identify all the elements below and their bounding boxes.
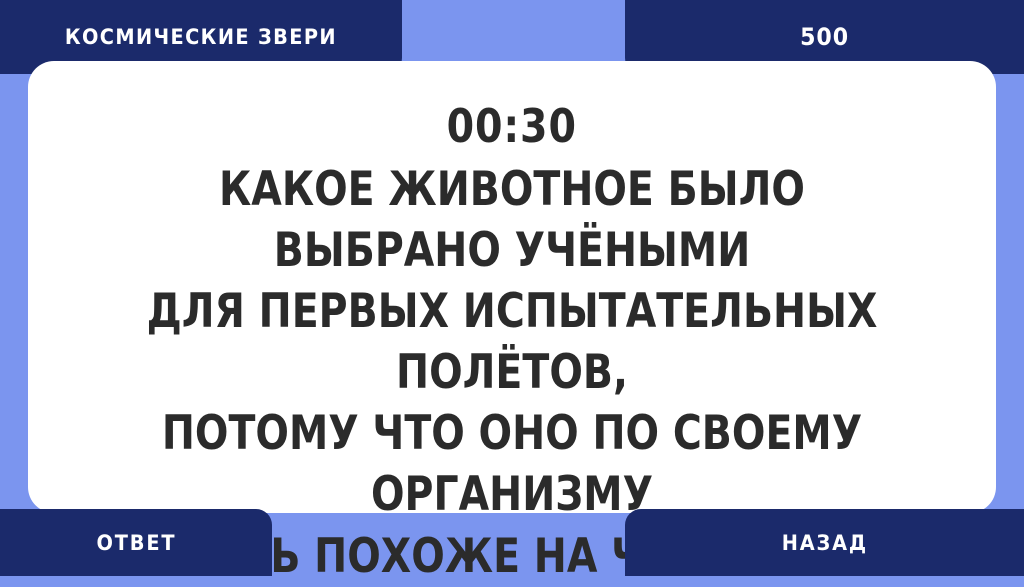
back-button-label: Назад: [781, 531, 867, 555]
answer-button[interactable]: Ответ: [0, 509, 272, 576]
answer-button-label: Ответ: [96, 531, 176, 555]
points-value: 500: [800, 23, 849, 51]
category-label: Космические звери: [65, 25, 337, 49]
question-card: 00:30 Какое животное было выбрано учёным…: [28, 61, 996, 513]
quiz-screen: Космические звери 500 00:30 Какое животн…: [0, 0, 1024, 576]
countdown-timer: 00:30: [447, 99, 577, 153]
back-button[interactable]: Назад: [625, 509, 1024, 576]
